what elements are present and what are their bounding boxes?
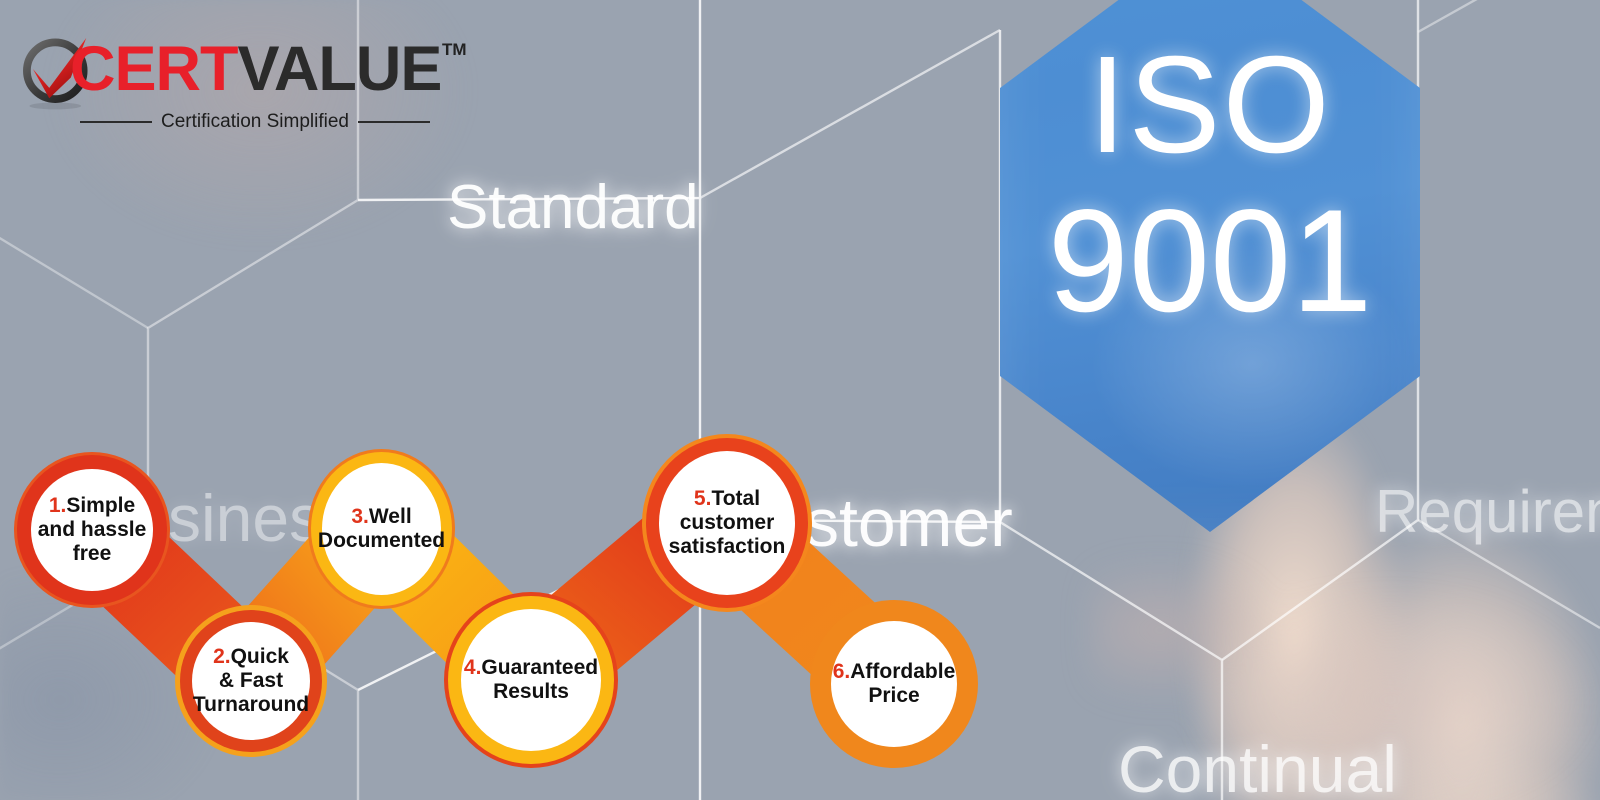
iso-label: ISO xyxy=(1000,36,1420,174)
node-disc: 5.Total customer satisfaction xyxy=(659,451,795,595)
node-disc: 2.Quick & Fast Turnaround xyxy=(192,622,310,740)
benefit-5-line3: satisfaction xyxy=(669,535,786,558)
benefit-node-4[interactable]: 4.Guaranteed Results xyxy=(444,592,618,768)
node-disc: 6.Affordable Price xyxy=(831,621,957,747)
benefit-node-1[interactable]: 1.Simple and hassle free xyxy=(14,452,170,608)
benefit-2-line3: Turnaround xyxy=(193,693,309,716)
benefit-4-line1: 4.Guaranteed xyxy=(464,656,598,679)
benefit-1-line1: 1.Simple xyxy=(49,494,135,517)
iso-number: 9001 xyxy=(1000,188,1420,334)
certvalue-logo[interactable]: CERTVALUE TM Certification Simplified xyxy=(14,18,484,128)
benefit-2-line1: 2.Quick xyxy=(213,645,289,668)
node-disc: 1.Simple and hassle free xyxy=(31,469,153,591)
benefit-6-line2: Price xyxy=(868,684,919,707)
node-disc: 3.Well Documented xyxy=(322,463,441,595)
node-disc: 4.Guaranteed Results xyxy=(461,609,601,751)
benefit-node-6[interactable]: 6.Affordable Price xyxy=(810,600,978,768)
logo-value-text: VALUE xyxy=(238,34,442,104)
trademark-symbol: TM xyxy=(442,40,467,60)
benefit-1-line3: free xyxy=(73,542,112,565)
tagline-rule-right xyxy=(358,121,430,123)
benefit-node-2[interactable]: 2.Quick & Fast Turnaround xyxy=(175,605,327,757)
benefit-3-line2: Documented xyxy=(318,529,445,552)
benefit-3-line1: 3.Well xyxy=(351,505,411,528)
banner-canvas: ISO 9001 Standard siness stomer Requirem… xyxy=(0,0,1600,800)
benefit-6-line1: 6.Affordable xyxy=(833,660,956,683)
logo-cert-text: CERT xyxy=(70,34,238,104)
benefit-node-3[interactable]: 3.Well Documented xyxy=(308,449,455,609)
bgword-standard: Standard xyxy=(447,172,699,243)
logo-tagline: Certification Simplified xyxy=(161,111,349,133)
tagline-rule-left xyxy=(80,121,152,123)
benefit-4-line2: Results xyxy=(493,680,569,703)
bgword-continual: Continual xyxy=(1118,731,1397,800)
bgword-requirement: Requirem xyxy=(1375,477,1600,546)
benefit-5-line2: customer xyxy=(680,511,775,534)
benefit-2-line2: & Fast xyxy=(219,669,283,692)
benefit-1-line2: and hassle xyxy=(38,518,147,541)
logo-wordmark: CERTVALUE xyxy=(70,38,441,101)
benefit-node-5[interactable]: 5.Total customer satisfaction xyxy=(642,434,812,612)
benefit-5-line1: 5.Total xyxy=(694,487,760,510)
logo-tagline-row: Certification Simplified xyxy=(80,114,430,130)
